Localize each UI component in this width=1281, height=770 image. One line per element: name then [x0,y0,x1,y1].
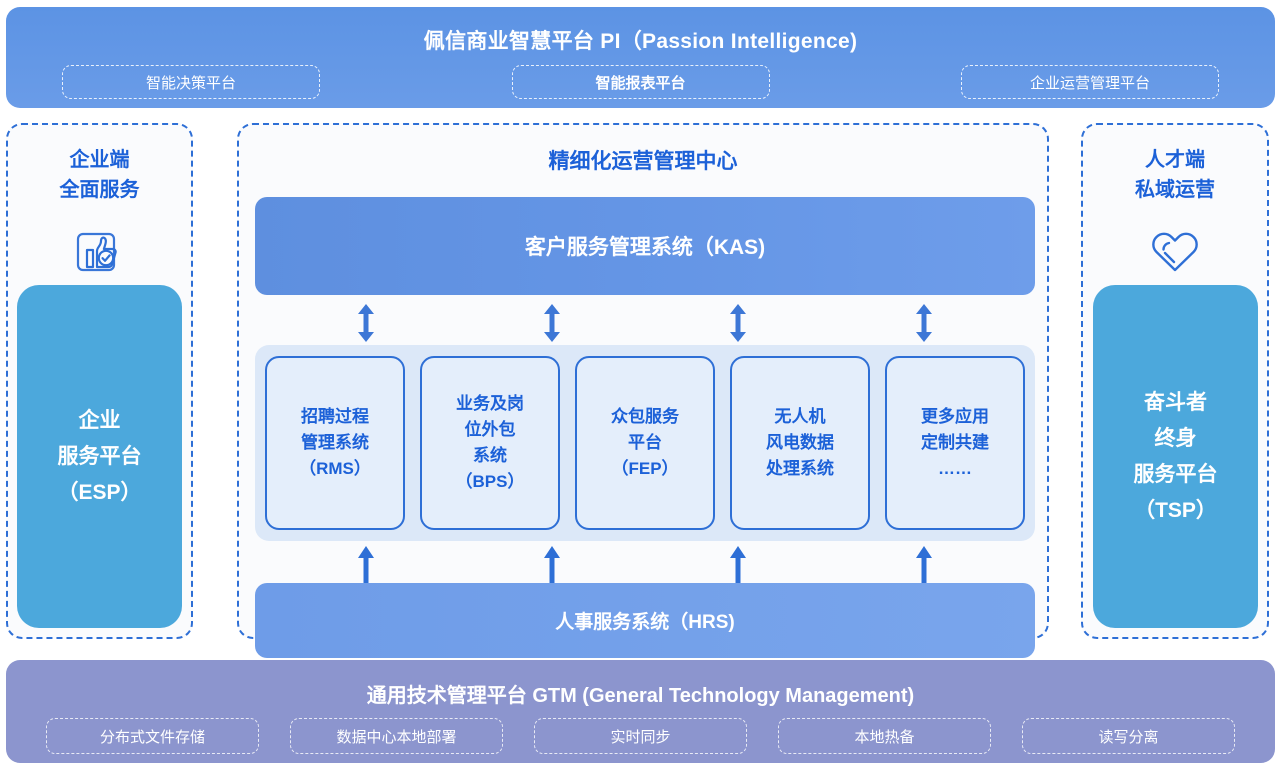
thumbs-up-check-icon [8,227,191,277]
arrow-up-icon [356,546,376,584]
double-arrow-2-slot [459,303,645,343]
pill-realtime-sync[interactable]: 实时同步 [534,718,747,754]
app-card-rms-line-1: 招聘过程 [299,404,371,430]
app-card-drone-line-3: 处理系统 [766,456,834,482]
heart-icon [1083,227,1267,275]
pill-distributed-file-storage[interactable]: 分布式文件存储 [46,718,259,754]
gtm-title: 通用技术管理平台 GTM (General Technology Managem… [6,679,1275,708]
app-card-fep-line-3: （FEP） [611,456,679,482]
double-arrow-icon [728,304,748,342]
app-card-fep-line-2: 平台 [611,430,679,456]
app-card-fep-line-1: 众包服务 [611,404,679,430]
pill-smart-decision[interactable]: 智能决策平台 [62,65,320,99]
app-card-rms-line-3: （RMS） [299,456,371,482]
tsp-line-4: （TSP） [1134,493,1218,529]
arrow-up-icon [728,546,748,584]
arrow-up-icon [914,546,934,584]
app-card-more-line-3: …… [921,456,989,482]
double-arrow-1-slot [273,303,459,343]
app-card-more-line-1: 更多应用 [921,404,989,430]
app-card-more-apps[interactable]: 更多应用 定制共建 …… [885,356,1025,530]
up-arrow-4-slot [831,545,1017,585]
right-talent-panel: 人才端 私域运营 奋斗者 终身 服务平台 （TSP） [1081,123,1269,639]
center-panel-title: 精细化运营管理中心 [239,145,1047,175]
platform-title: 佩信商业智慧平台 PI（Passion Intelligence) [6,25,1275,55]
app-card-bps-line-2: 位外包 [456,417,525,443]
app-card-bps-line-3: 系统 [456,443,525,469]
app-card-bps-line-4: （BPS） [456,469,525,495]
tsp-line-3: 服务平台 [1134,457,1218,493]
double-arrow-3-slot [645,303,831,343]
hrs-to-apps-arrow-row [255,545,1035,585]
pill-local-hot-standby[interactable]: 本地热备 [778,718,991,754]
esp-line-3: （ESP） [57,475,141,511]
arrow-up-icon [542,546,562,584]
app-card-drone-line-2: 风电数据 [766,430,834,456]
right-panel-title-line2: 私域运营 [1083,175,1267,205]
platform-pill-group: 智能决策平台 智能报表平台 企业运营管理平台 [6,65,1275,99]
right-panel-title: 人才端 私域运营 [1083,145,1267,205]
gtm-pill-group: 分布式文件存储 数据中心本地部署 实时同步 本地热备 读写分离 [6,718,1275,754]
tsp-line-2: 终身 [1134,421,1218,457]
app-card-drone-wind-data[interactable]: 无人机 风电数据 处理系统 [730,356,870,530]
double-arrow-icon [914,304,934,342]
double-arrow-icon [356,304,376,342]
app-card-bps[interactable]: 业务及岗 位外包 系统 （BPS） [420,356,560,530]
left-panel-title-line1: 企业端 [8,145,191,175]
gtm-footer-band: 通用技术管理平台 GTM (General Technology Managem… [6,660,1275,763]
esp-line-1: 企业 [57,403,141,439]
esp-line-2: 服务平台 [57,439,141,475]
tsp-box: 奋斗者 终身 服务平台 （TSP） [1093,285,1258,628]
esp-box: 企业 服务平台 （ESP） [17,285,182,628]
pill-enterprise-operation[interactable]: 企业运营管理平台 [961,65,1219,99]
right-panel-title-line1: 人才端 [1083,145,1267,175]
up-arrow-3-slot [645,545,831,585]
hrs-system-bar[interactable]: 人事服务系统（HRS) [255,583,1035,658]
kas-to-apps-arrow-row [255,303,1035,343]
kas-system-bar[interactable]: 客户服务管理系统（KAS) [255,197,1035,295]
left-enterprise-panel: 企业端 全面服务 企业 服务平台 （ESP） [6,123,193,639]
tsp-line-1: 奋斗者 [1134,385,1218,421]
app-card-bps-line-1: 业务及岗 [456,391,525,417]
app-card-drone-line-1: 无人机 [766,404,834,430]
app-card-fep[interactable]: 众包服务 平台 （FEP） [575,356,715,530]
operations-center-panel: 精细化运营管理中心 客户服务管理系统（KAS) 招聘过程 [237,123,1049,639]
pill-smart-report[interactable]: 智能报表平台 [512,65,770,99]
app-card-more-line-2: 定制共建 [921,430,989,456]
app-card-rms-line-2: 管理系统 [299,430,371,456]
app-card-rms[interactable]: 招聘过程 管理系统 （RMS） [265,356,405,530]
double-arrow-icon [542,304,562,342]
application-cards-band: 招聘过程 管理系统 （RMS） 业务及岗 位外包 系统 （BPS） 众包服务 平… [255,345,1035,541]
left-panel-title-line2: 全面服务 [8,175,191,205]
double-arrow-4-slot [831,303,1017,343]
left-panel-title: 企业端 全面服务 [8,145,191,205]
platform-header-band: 佩信商业智慧平台 PI（Passion Intelligence) 智能决策平台… [6,7,1275,108]
pill-datacenter-local-deploy[interactable]: 数据中心本地部署 [290,718,503,754]
up-arrow-1-slot [273,545,459,585]
up-arrow-2-slot [459,545,645,585]
pill-read-write-separation[interactable]: 读写分离 [1022,718,1235,754]
